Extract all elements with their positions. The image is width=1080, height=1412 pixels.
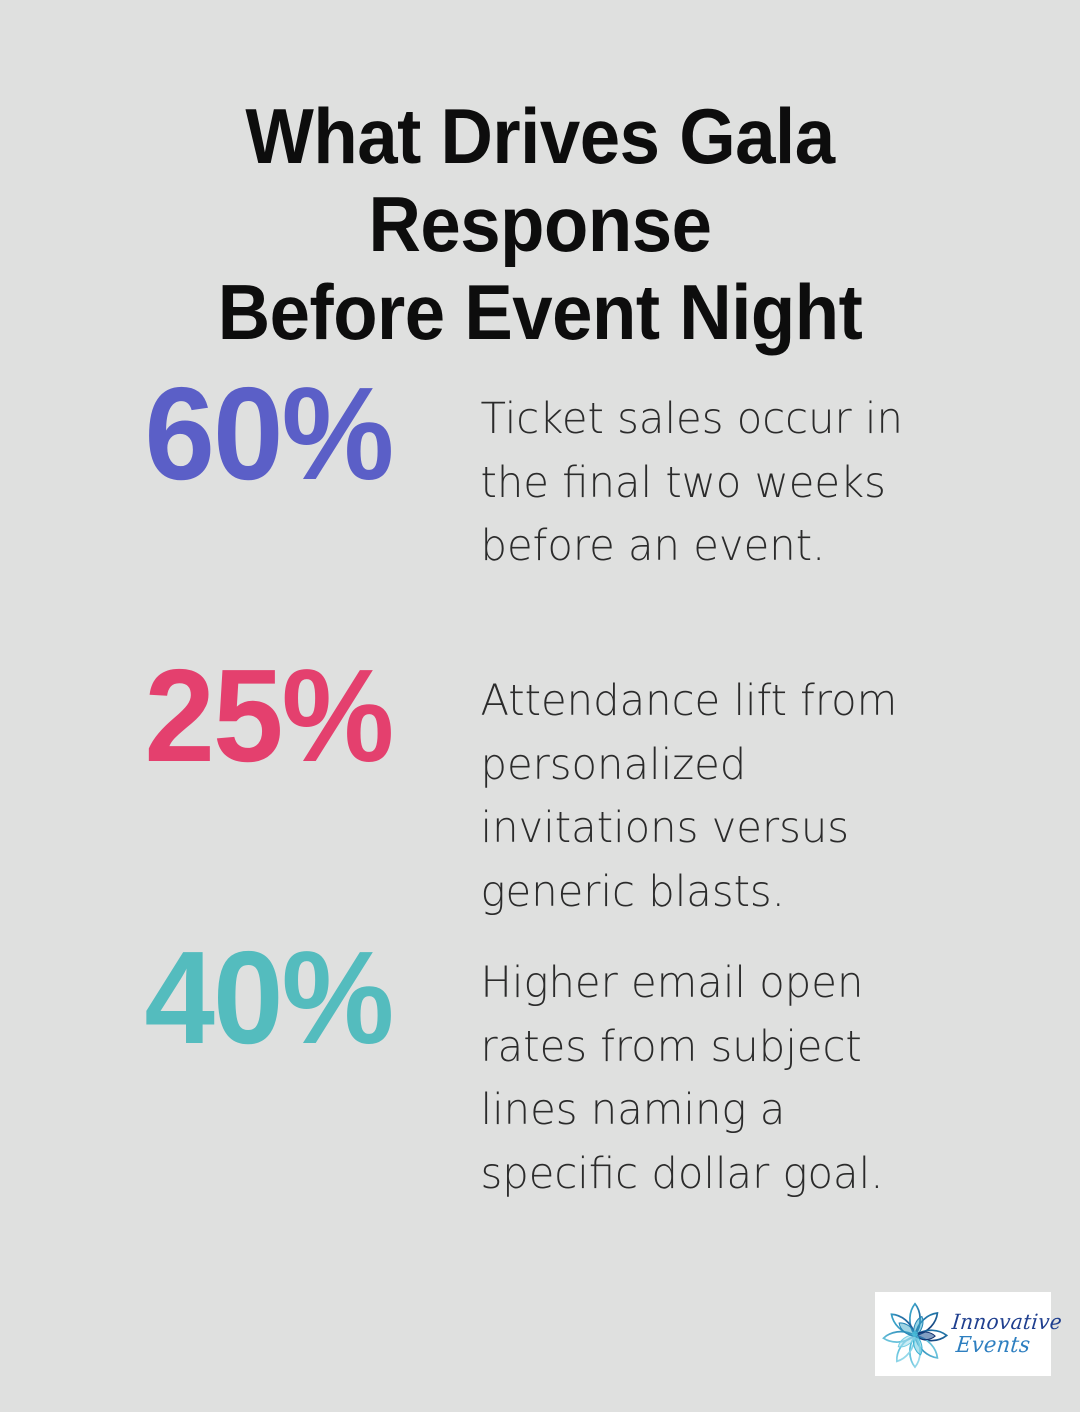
stat-description-2: Attendance lift from personalized invita… bbox=[400, 650, 929, 925]
page-title: What Drives Gala Response Before Event N… bbox=[75, 92, 1005, 356]
stat-row: 25% Attendance lift from personalized in… bbox=[0, 650, 1080, 932]
stat-description-3: Higher email open rates from subject lin… bbox=[400, 932, 929, 1207]
stat-row: 40% Higher email open rates from subject… bbox=[0, 932, 1080, 1214]
stats-list: 60% Ticket sales occur in the final two … bbox=[0, 368, 1080, 1214]
stat-value-1: 60% bbox=[16, 368, 400, 500]
stat-description-1: Ticket sales occur in the final two week… bbox=[400, 368, 929, 579]
brand-wordmark: Innovative Events bbox=[952, 1312, 1068, 1357]
brand-name-line-1: Innovative bbox=[951, 1312, 1063, 1333]
flower-star-icon bbox=[879, 1298, 951, 1370]
stat-value-3: 40% bbox=[16, 932, 400, 1064]
stat-value-2: 25% bbox=[16, 650, 400, 782]
page-title-block: What Drives Gala Response Before Event N… bbox=[40, 92, 1040, 356]
brand-name-line-2: Events bbox=[955, 1335, 1064, 1357]
brand-logo: Innovative Events bbox=[875, 1292, 1051, 1376]
infographic-poster: What Drives Gala Response Before Event N… bbox=[0, 0, 1080, 1412]
stat-row: 60% Ticket sales occur in the final two … bbox=[0, 368, 1080, 650]
